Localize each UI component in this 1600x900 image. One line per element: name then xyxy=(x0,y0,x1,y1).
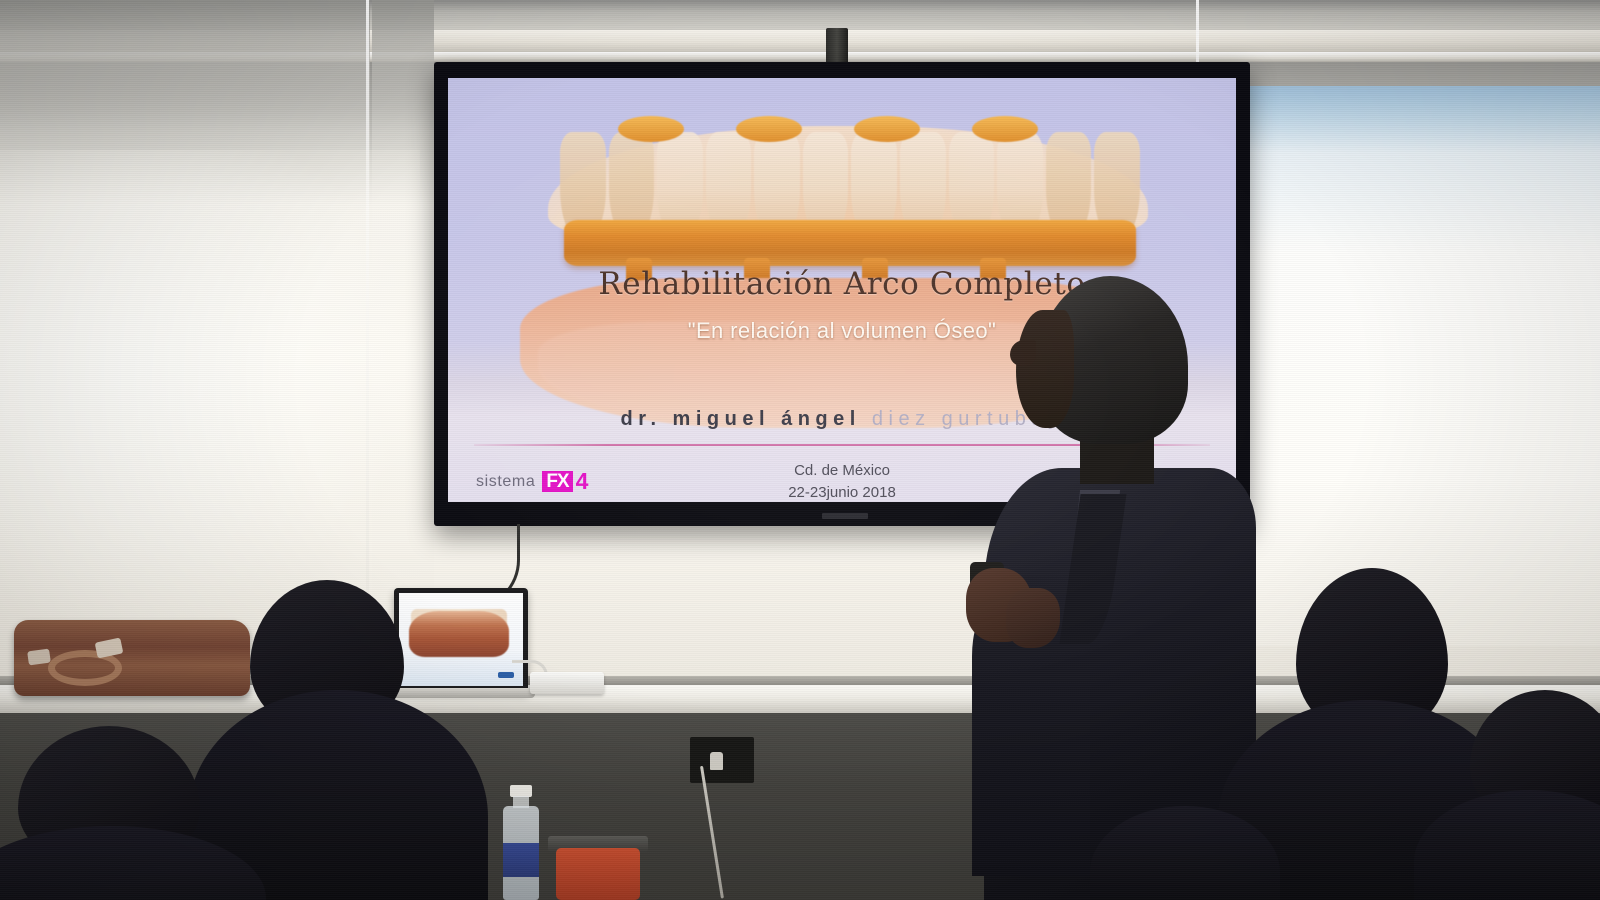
snack-container xyxy=(556,848,640,900)
water-bottle xyxy=(503,785,539,900)
presenter-nose xyxy=(1010,340,1036,366)
presentation-room-scene: Rehabilitación Arco Completo "En relació… xyxy=(0,0,1600,900)
laptop-base xyxy=(387,688,535,698)
laptop-display-content xyxy=(399,593,523,686)
presenter-laptop xyxy=(394,588,528,692)
bar-bump xyxy=(972,116,1038,142)
bottle-label xyxy=(503,843,539,877)
plug-icon xyxy=(710,752,723,770)
bar-bump xyxy=(736,116,802,142)
presenter-face xyxy=(1016,310,1074,428)
display-brand-logo xyxy=(822,513,868,519)
dock-adapter xyxy=(530,672,604,694)
laptop-dental-model-image xyxy=(409,611,509,657)
bar-bump xyxy=(854,116,920,142)
laptop-screen xyxy=(394,588,528,692)
presenter-hand xyxy=(1006,588,1060,648)
presenter-name-primary: dr. miguel ángel xyxy=(621,408,861,430)
window-glare-left xyxy=(0,150,420,630)
bar-bump xyxy=(618,116,684,142)
